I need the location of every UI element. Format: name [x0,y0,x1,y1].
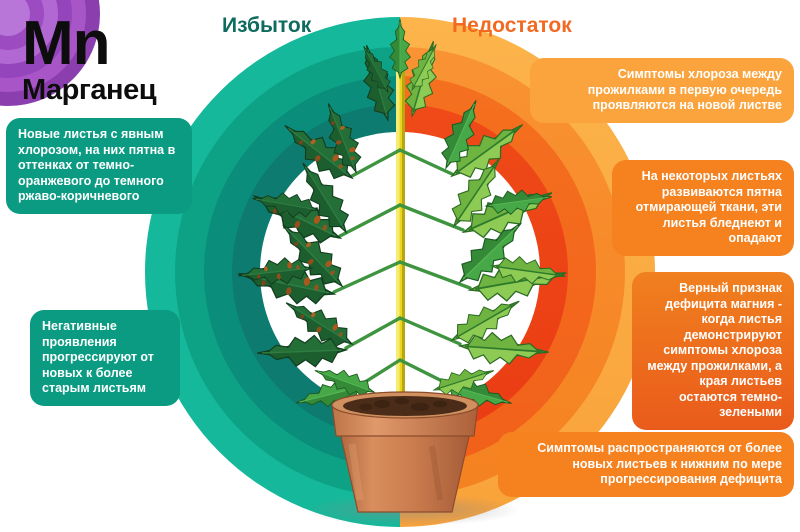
callout-excess-2: Негативные проявления прогрессируют от н… [30,310,180,406]
header-deficiency: Недостаток [452,14,572,38]
callout-deficiency-3: Верный признак дефицита магния - когда л… [632,272,794,430]
callout-excess-1: Новые листья с явным хлорозом, на них пя… [6,118,192,214]
excess-foliage [235,42,401,415]
element-title-block: Mn Марганец [22,18,156,106]
terracotta-pot [332,392,478,512]
element-name: Марганец [22,74,156,106]
callout-deficiency-2: На некоторых листьях развиваются пятна о… [612,160,794,256]
infographic-canvas: Mn Марганец Избыток Недостаток Новые лис… [0,0,800,532]
callout-deficiency-4: Симптомы распространяются от более новых… [498,432,794,497]
header-excess: Избыток [222,14,311,38]
element-symbol: Mn [22,18,156,70]
plant-stem [396,52,405,404]
callout-deficiency-1: Симптомы хлороза между прожилками в перв… [530,58,794,123]
